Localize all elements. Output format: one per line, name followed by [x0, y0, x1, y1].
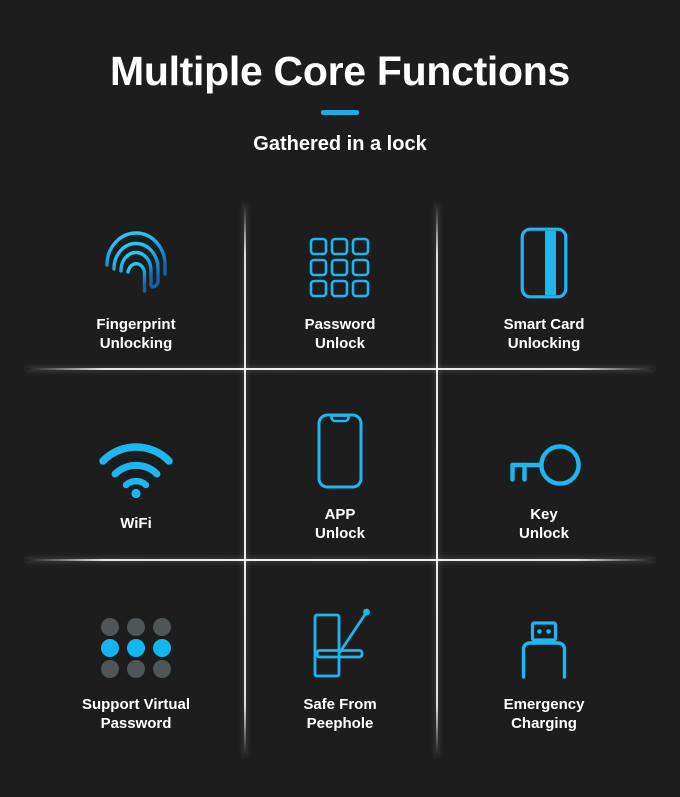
feature-cell-safe-from-peephole[interactable]: Safe From Peephole — [238, 572, 442, 762]
feature-cell-smart-card-unlocking[interactable]: Smart Card Unlocking — [442, 192, 646, 382]
dot-matrix-icon — [100, 601, 172, 679]
feature-cell-password-unlock[interactable]: Password Unlock — [238, 192, 442, 382]
feature-cell-key-unlock[interactable]: Key Unlock — [442, 382, 646, 572]
feature-grid-page: Multiple Core Functions Gathered in a lo… — [0, 0, 680, 797]
feature-label: Password Unlock — [305, 315, 376, 353]
feature-grid: Fingerprint Unlocking — [34, 192, 646, 762]
feature-cell-fingerprint-unlocking[interactable]: Fingerprint Unlocking — [34, 192, 238, 382]
feature-label: Smart Card Unlocking — [504, 315, 585, 353]
page-subtitle: Gathered in a lock — [0, 115, 680, 156]
keypad-grid-icon — [309, 221, 371, 299]
feature-cell-support-virtual-password[interactable]: Support Virtual Password — [34, 572, 238, 762]
smart-card-icon — [520, 221, 568, 299]
feature-label: Key Unlock — [519, 505, 569, 543]
page-title: Multiple Core Functions — [0, 0, 680, 93]
feature-cell-wifi[interactable]: WiFi — [34, 382, 238, 572]
feature-label: Emergency Charging — [504, 695, 585, 733]
header-block: Multiple Core Functions Gathered in a lo… — [0, 0, 680, 156]
feature-label: Support Virtual Password — [82, 695, 190, 733]
feature-label: APP Unlock — [315, 505, 365, 543]
feature-label: WiFi — [120, 514, 152, 533]
feature-label: Fingerprint Unlocking — [96, 315, 175, 353]
wifi-icon — [99, 420, 173, 498]
usb-plug-icon — [515, 601, 573, 679]
door-lock-peephole-icon — [307, 601, 373, 679]
feature-cell-app-unlock[interactable]: APP Unlock — [238, 382, 442, 572]
fingerprint-icon — [101, 221, 171, 299]
feature-label: Safe From Peephole — [303, 695, 376, 733]
smartphone-icon — [317, 411, 363, 489]
feature-cell-emergency-charging[interactable]: Emergency Charging — [442, 572, 646, 762]
key-icon — [507, 411, 581, 489]
